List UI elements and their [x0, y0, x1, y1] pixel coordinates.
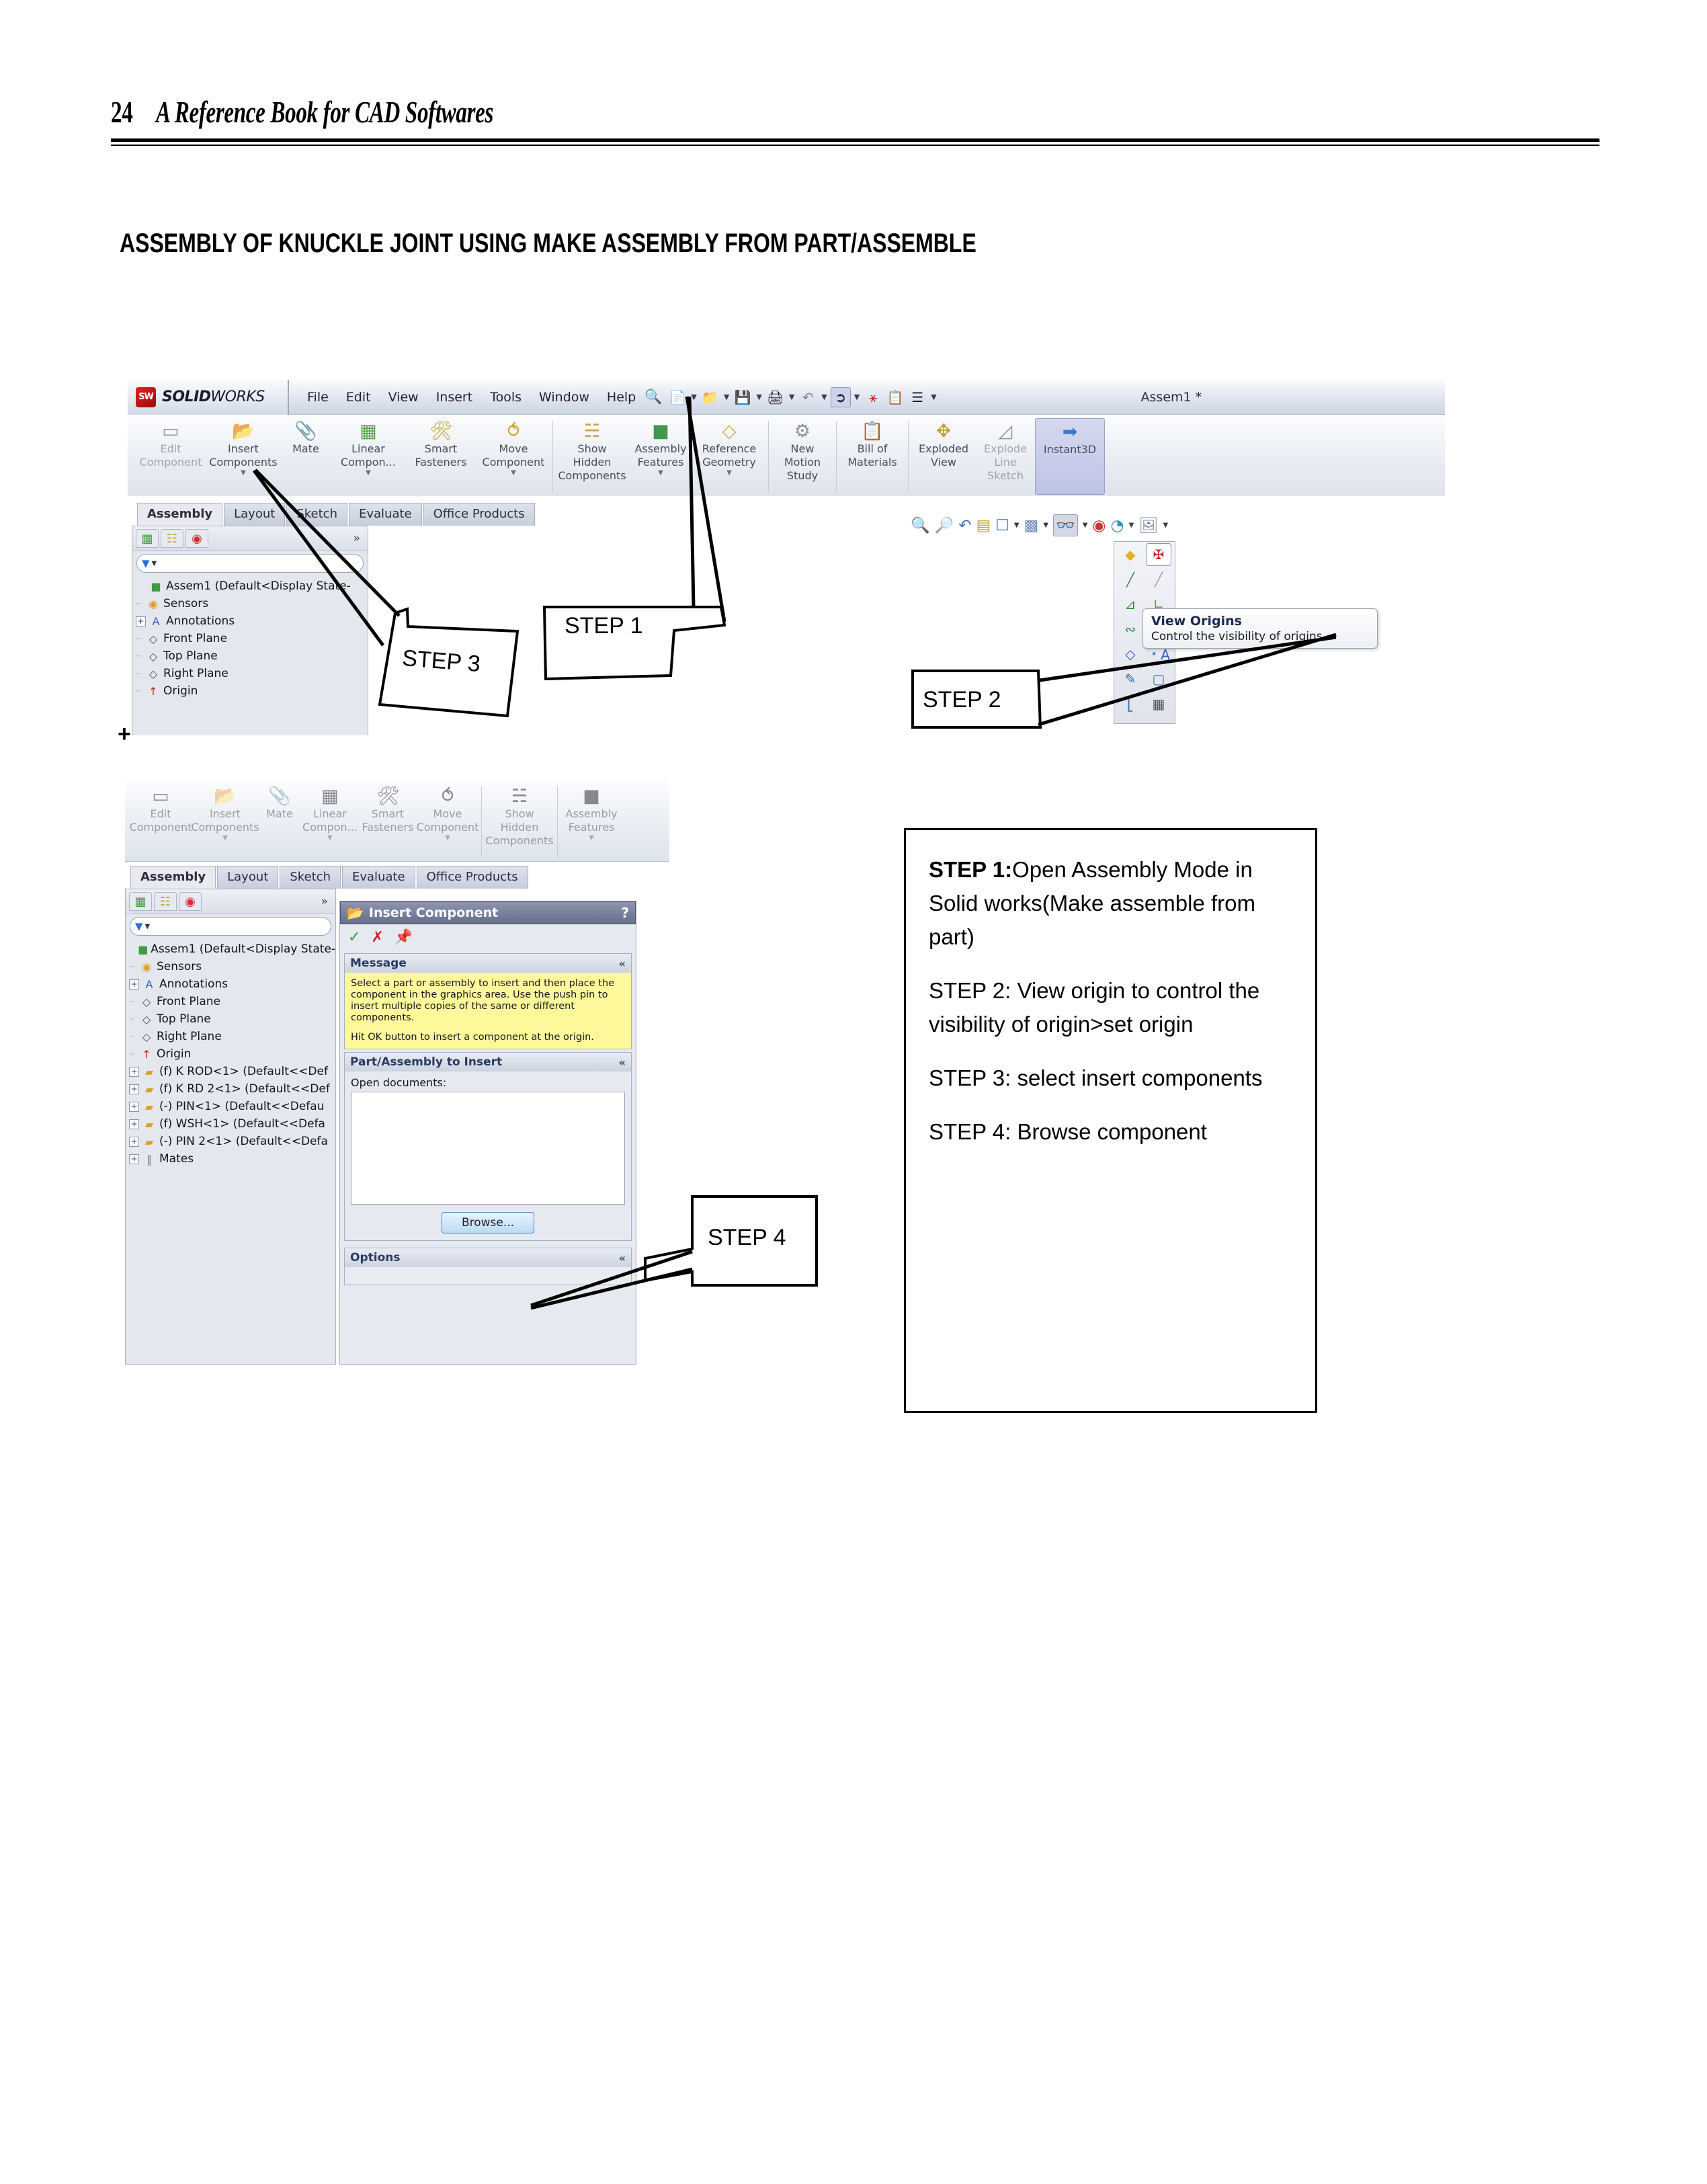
collapse-chevron-icon[interactable]: « — [619, 957, 626, 970]
step2-callout-label: STEP 2 — [923, 687, 1001, 713]
view-live-section-icon[interactable]: ⎣ — [1118, 692, 1143, 715]
ribbon-new-motion-study[interactable]: ⚙ New Motion Study — [772, 418, 833, 495]
ribbon-label: Fasteners — [415, 456, 467, 469]
ribbon2-move-component[interactable]: ⥀ Move Component ▼ — [417, 783, 478, 861]
feature-manager-tree-icon[interactable]: ▦ — [129, 892, 152, 911]
display-manager-icon[interactable]: ◉ — [185, 529, 208, 548]
annotations-icon: A — [148, 615, 164, 628]
tooltip-description: Control the visibility of origins. — [1151, 630, 1369, 643]
ribbon-show-hidden-components[interactable]: ☵ Show Hidden Components — [556, 418, 628, 495]
select-pointer-icon[interactable]: ➲ — [831, 387, 851, 407]
message-body: Select a part or assembly to insert and … — [345, 973, 631, 1049]
ribbon-explode-line-sketch[interactable]: ◿ Explode Line Sketch — [976, 418, 1035, 495]
tree-item-label: Annotations — [166, 614, 235, 628]
step1-instruction: STEP 1:Open Assembly Mode in Solid works… — [929, 853, 1295, 954]
ribbon-label: Motion — [784, 456, 821, 469]
chevron-down-icon[interactable]: ▼ — [222, 834, 228, 842]
display-manager-icon[interactable]: ◉ — [179, 892, 202, 911]
tree-item-label: (f) WSH<1> (Default<<Defa — [159, 1117, 325, 1131]
menu-items[interactable]: File Edit View Insert Tools Window Help … — [289, 387, 662, 407]
ribbon-move-component[interactable]: ⥀ Move Component ▼ — [477, 418, 550, 495]
ribbon-linear-component-pattern[interactable]: ▦ Linear Compon... ▼ — [332, 418, 405, 495]
tree-item[interactable]: ··◇Front Plane — [129, 993, 335, 1010]
tab2-assembly[interactable]: Assembly — [130, 866, 216, 889]
part-icon: ▰ — [141, 1118, 157, 1131]
insert-components-icon: 📂 — [214, 786, 237, 807]
ribbon-label: Line — [994, 456, 1016, 469]
expand-plus-icon[interactable]: + — [129, 1154, 139, 1164]
ribbon-label: Component — [130, 821, 192, 834]
message-section-header[interactable]: Message « — [345, 954, 631, 973]
show-hidden-components-icon: ☵ — [584, 421, 600, 442]
tree-item[interactable]: +▰(-) PIN<1> (Default<<Defau — [129, 1098, 335, 1115]
expand-plus-icon[interactable]: + — [129, 1102, 139, 1112]
section-title: Options — [350, 1251, 400, 1264]
linear-component-pattern-icon: ▦ — [360, 421, 377, 442]
tree-item-label: (-) PIN 2<1> (Default<<Defa — [159, 1135, 328, 1148]
tree-connector: ·· — [136, 634, 145, 643]
ribbon-reference-geometry[interactable]: ◇ Reference Geometry ▼ — [693, 418, 765, 495]
section-title: Message — [350, 957, 407, 970]
chevron-down-icon[interactable]: ▼ — [511, 469, 516, 477]
ribbon-label: Move — [499, 443, 528, 455]
tree-item[interactable]: ··◇Right Plane — [129, 1028, 335, 1045]
plane-icon: ◇ — [138, 996, 155, 1008]
tree-item[interactable]: +AAnnotations — [136, 612, 368, 630]
ribbon-label: Reference — [702, 443, 757, 455]
ribbon-label: Exploded — [919, 443, 968, 455]
tree-item-label: Assem1 (Default<Display State- — [151, 942, 335, 956]
tree-item-label: Front Plane — [157, 995, 220, 1008]
bill-of-materials-icon: 📋 — [861, 421, 884, 442]
tree-connector: ·· — [136, 669, 145, 678]
chevron-down-icon[interactable]: ▼ — [327, 834, 333, 842]
ribbon-label: Assembly — [634, 443, 686, 455]
edit-appearance-icon[interactable]: ◉ — [1092, 517, 1106, 534]
tree-filter-input[interactable]: ▼ ▼ — [136, 554, 364, 573]
expand-plus-icon[interactable]: + — [129, 1084, 139, 1094]
step1-instruction-label: STEP 1: — [929, 857, 1012, 882]
part-assembly-section: Part/Assembly to Insert « Open documents… — [344, 1052, 632, 1241]
tree-item[interactable]: ··◇Front Plane — [136, 630, 368, 647]
ribbon-insert-components[interactable]: 📂 Insert Components ▼ — [207, 418, 280, 495]
tree-item-label: Origin — [163, 684, 198, 698]
ribbon-label: Explode — [984, 443, 1027, 455]
command-tabs-top[interactable]: Assembly Layout Sketch Evaluate Office P… — [132, 503, 575, 526]
tab2-office-products[interactable]: Office Products — [417, 866, 528, 889]
tree-connector: ·· — [129, 1049, 138, 1059]
assembly-ribbon-bottom: ▭ Edit Component 📂 Insert Components ▼ 📎… — [125, 780, 669, 862]
ribbon-label: Components — [191, 821, 259, 834]
open-folder-icon[interactable]: 📁 — [700, 387, 720, 407]
filter-icon: ▼ — [135, 920, 143, 932]
expand-plus-icon[interactable]: + — [129, 979, 139, 989]
tree-item[interactable]: ■Assem1 (Default<Display State- — [136, 577, 368, 595]
search-help-icon[interactable]: 🔍 — [644, 389, 662, 405]
reference-geometry-icon: ◇ — [722, 421, 737, 442]
sensors-icon: ◉ — [138, 961, 155, 973]
sensors-icon: ◉ — [145, 598, 161, 610]
tree-filter-input[interactable]: ▼ ▼ — [130, 917, 331, 936]
ribbon-label: Insert — [210, 808, 241, 820]
ribbon-label: Features — [638, 456, 684, 469]
hide-show-items-icon[interactable]: 👓 — [1053, 514, 1078, 536]
help-question-icon[interactable]: ? — [621, 905, 629, 921]
plane-icon: ◇ — [138, 1013, 155, 1026]
step4-callout-label: STEP 4 — [708, 1225, 786, 1251]
properties-icon[interactable]: ☰ — [907, 387, 927, 407]
steps-instructions-box: STEP 1:Open Assembly Mode in Solid works… — [904, 828, 1317, 1413]
plane-icon: ◇ — [145, 633, 161, 645]
ribbon2-edit-component[interactable]: ▭ Edit Component — [129, 783, 192, 861]
ribbon-bill-of-materials[interactable]: 📋 Bill of Materials — [839, 418, 905, 495]
property-manager-title: Insert Component — [369, 905, 498, 920]
insert-component-icon: 📂 — [347, 905, 364, 921]
tree-item-label: Right Plane — [157, 1030, 222, 1043]
tree-item[interactable]: +AAnnotations — [129, 975, 335, 993]
tree-connector: ·· — [136, 651, 145, 661]
ribbon-mate[interactable]: 📎 Mate — [280, 418, 332, 495]
ribbon-label: Instant3D — [1044, 444, 1096, 456]
tooltip-title: View Origins — [1151, 614, 1369, 629]
tree-item[interactable]: +▰(-) PIN 2<1> (Default<<Defa — [129, 1133, 335, 1150]
view-orientation-icon[interactable]: ☐ — [995, 517, 1009, 534]
options-section: Options « — [344, 1248, 632, 1285]
ribbon2-assembly-features[interactable]: ■ Assembly Features ▼ — [560, 783, 622, 861]
tree-item-label: (-) PIN<1> (Default<<Defau — [159, 1100, 324, 1113]
collapse-chevron-icon[interactable]: « — [619, 1056, 626, 1069]
step4-instruction: STEP 4: Browse component — [929, 1115, 1295, 1149]
ribbon-label: Compon... — [341, 456, 396, 469]
ribbon-label: Linear — [351, 443, 385, 455]
expand-plus-icon[interactable]: + — [129, 1119, 139, 1129]
insert-component-property-manager: 📂 Insert Component ? ✓ ✗ 📌 Message « Sel… — [339, 901, 636, 1365]
ribbon-label: Show — [505, 808, 534, 820]
ribbon-label: Mate — [292, 443, 319, 455]
assembly-icon: ■ — [148, 580, 164, 593]
page-number: 24 — [111, 94, 132, 130]
tree-connector: ·· — [136, 599, 145, 608]
display-style-icon[interactable]: ▩ — [1024, 517, 1039, 534]
rebuild-icon[interactable]: ⚹ — [863, 387, 883, 407]
step2-instruction: STEP 2: View origin to control the visib… — [929, 974, 1295, 1041]
ribbon-label: Edit — [161, 443, 181, 455]
tree-item[interactable]: +▰(f) K ROD<1> (Default<<Def — [129, 1063, 335, 1080]
move-component-icon: ⥀ — [507, 421, 519, 442]
chevron-down-icon[interactable]: ▼ — [589, 834, 594, 842]
tree-item[interactable]: ··◇Top Plane — [129, 1010, 335, 1028]
insert-components-icon: 📂 — [232, 421, 255, 442]
ribbon-exploded-view[interactable]: ✥ Exploded View — [911, 418, 976, 495]
apply-scene-icon[interactable]: ◔ — [1110, 517, 1124, 534]
property-manager-icon[interactable]: ☷ — [161, 529, 183, 548]
tree-connector: ·· — [129, 1014, 138, 1024]
command-tabs-bottom[interactable]: Assembly Layout Sketch Evaluate Office P… — [125, 866, 542, 889]
feature-tree-list[interactable]: ■Assem1 (Default<Display State-··◉Sensor… — [132, 575, 368, 700]
smart-fasteners-icon: 🛠 — [376, 786, 399, 807]
tree-item-label: Top Plane — [163, 649, 218, 663]
tree-overflow-chevron[interactable]: » — [321, 895, 332, 908]
zoom-to-area-icon[interactable]: 🔎 — [935, 516, 954, 534]
property-manager-title-bar: 📂 Insert Component ? — [340, 901, 636, 924]
part-icon: ▰ — [141, 1135, 157, 1148]
tree-item-label: Front Plane — [163, 632, 227, 645]
running-head-title: A Reference Book for CAD Softwares — [156, 95, 493, 129]
menu-view[interactable]: View — [380, 387, 427, 407]
ribbon-label: Assembly — [565, 808, 617, 820]
view-sketches-icon[interactable]: ◇ — [1118, 643, 1143, 665]
ribbon-label: Smart — [425, 443, 457, 455]
tab2-evaluate[interactable]: Evaluate — [342, 866, 415, 889]
ribbon-label: Components — [485, 835, 553, 847]
origin-icon: ↑ — [145, 685, 161, 698]
tree-item-label: Annotations — [159, 977, 228, 991]
tree-overflow-chevron[interactable]: » — [353, 532, 364, 545]
open-documents-label: Open documents: — [351, 1076, 625, 1089]
browse-button[interactable]: Browse... — [442, 1212, 534, 1233]
ribbon-label: Features — [569, 821, 615, 834]
options-icon[interactable]: 📋 — [885, 387, 905, 407]
feature-tree-bottom: ▦ ☷ ◉ » ▼ ▼ ■Assem1 (Default<Display Sta… — [125, 889, 336, 1365]
part-icon: ▰ — [141, 1100, 157, 1113]
ribbon2-smart-fasteners[interactable]: 🛠 Smart Fasteners — [359, 783, 417, 861]
ribbon-label: Insert — [228, 443, 259, 455]
section-view-icon[interactable]: ▤ — [976, 517, 991, 534]
tree-item[interactable]: ··◉Sensors — [129, 958, 335, 975]
tree-connector: ·· — [129, 1032, 138, 1041]
tree-item[interactable]: ··◇Top Plane — [136, 647, 368, 665]
ribbon-label: Components — [209, 456, 277, 469]
tree-item[interactable]: +▰(f) WSH<1> (Default<<Defa — [129, 1115, 335, 1133]
tree-item[interactable]: +‖Mates — [129, 1150, 335, 1168]
tab-sketch[interactable]: Sketch — [286, 503, 347, 526]
save-icon[interactable]: 💾 — [733, 387, 753, 407]
tree-item-label: Mates — [159, 1152, 194, 1166]
ribbon-label: Mate — [266, 808, 293, 820]
filter-icon: ▼ — [142, 557, 150, 569]
ribbon-edit-component[interactable]: ▭ Edit Component — [134, 418, 207, 495]
tree-item[interactable]: ··↑Origin — [129, 1045, 335, 1063]
tree-item-label: Right Plane — [163, 667, 228, 680]
tree-item[interactable]: ··◇Right Plane — [136, 665, 368, 682]
tree-connector: ·· — [136, 686, 145, 696]
new-document-icon[interactable]: 📄 — [667, 387, 688, 407]
step3-callout-label: STEP 3 — [401, 645, 481, 678]
tree-item-label: Origin — [157, 1047, 191, 1061]
tree-tab-strip[interactable]: ▦ ☷ ◉ » — [126, 889, 335, 914]
tree-tab-strip[interactable]: ▦ ☷ ◉ » — [132, 526, 368, 551]
view-planes-icon[interactable]: ◆ — [1118, 543, 1143, 566]
header-rule — [111, 138, 1599, 146]
edit-component-icon: ▭ — [162, 421, 179, 442]
part-icon: ▰ — [141, 1065, 157, 1078]
feature-tree-top: ▦ ☷ ◉ » ▼ ▼ ■Assem1 (Default<Display Sta… — [132, 526, 368, 735]
ribbon-label: Linear — [313, 808, 347, 820]
step1-callout-label: STEP 1 — [565, 613, 643, 639]
ribbon-instant3d[interactable]: ➡ Instant3D — [1035, 418, 1105, 495]
collapse-chevron-icon[interactable]: « — [619, 1252, 626, 1264]
property-manager-actions[interactable]: ✓ ✗ 📌 — [340, 924, 636, 951]
brand-light: WORKS — [211, 389, 265, 405]
assembly-features-icon: ■ — [583, 786, 600, 807]
ribbon-label: Show — [577, 443, 606, 455]
chevron-down-icon[interactable]: ▼ — [726, 469, 732, 477]
ribbon-assembly-features[interactable]: ■ Assembly Features ▼ — [628, 418, 693, 495]
mates-icon: ‖ — [141, 1153, 157, 1166]
plane-icon: ◇ — [138, 1030, 155, 1043]
ribbon2-linear-component-pattern[interactable]: ▦ Linear Compon... ▼ — [301, 783, 359, 861]
solidworks-logo: SW SOLIDWORKS — [128, 380, 289, 415]
tab-layout[interactable]: Layout — [224, 503, 285, 526]
view-grid-icon[interactable]: ▢ — [1146, 668, 1171, 690]
tree-item-label: Sensors — [163, 597, 208, 610]
message-paragraph-1: Select a part or assembly to insert and … — [351, 978, 625, 1024]
document-title: Assem1 * — [938, 390, 1405, 405]
tree-item[interactable]: ··↑Origin — [136, 682, 368, 700]
ribbon-label: View — [931, 456, 956, 469]
mate-icon: 📎 — [294, 421, 317, 442]
chevron-down-icon[interactable]: ▼ — [445, 834, 450, 842]
ribbon-label: New — [791, 443, 815, 455]
view-origins-tooltip: View Origins Control the visibility of o… — [1142, 608, 1378, 649]
feature-tree-list[interactable]: ■Assem1 (Default<Display State-··◉Sensor… — [126, 938, 335, 1168]
step3-instruction: STEP 3: select insert components — [929, 1061, 1295, 1095]
ribbon-label: Compon... — [302, 821, 358, 834]
tree-connector: ·· — [129, 962, 138, 971]
tab2-sketch[interactable]: Sketch — [280, 866, 341, 889]
menu-edit[interactable]: Edit — [337, 387, 380, 407]
view-grid-lines-icon[interactable]: ▦ — [1146, 692, 1171, 715]
feature-manager-tree-icon[interactable]: ▦ — [136, 529, 159, 548]
ribbon-label: Hidden — [501, 821, 539, 834]
view-coordinate-systems-icon[interactable]: ⊿ — [1118, 593, 1143, 616]
assembly-icon: ■ — [138, 943, 149, 956]
quick-access-toolbar[interactable]: 📄▼ 📁▼ 💾▼ 🖨▼ ↶▼ ➲▼ ⚹ 📋 ☰▼ — [662, 380, 938, 415]
menu-tools[interactable]: Tools — [481, 387, 530, 407]
tree-item-label: Sensors — [157, 960, 202, 973]
tree-item-label: (f) K ROD<1> (Default<<Def — [159, 1065, 328, 1078]
message-paragraph-2: Hit OK button to insert a component at t… — [351, 1032, 625, 1043]
plane-icon: ◇ — [145, 668, 161, 680]
show-hidden-components-icon: ☵ — [511, 786, 528, 807]
tree-item-label: Assem1 (Default<Display State- — [166, 579, 351, 593]
exploded-view-icon: ✥ — [936, 421, 952, 442]
running-head: 24A Reference Book for CAD Softwares — [111, 94, 1183, 130]
chevron-down-icon[interactable]: ▼ — [145, 923, 151, 930]
view-curves-icon[interactable]: ∾ — [1118, 618, 1143, 641]
view-toolbar-top[interactable]: 🔍 🔎 ↶ ▤ ☐▼ ▩▼ 👓▼ ◉ ◔▼ 🖼▼ — [911, 514, 1168, 536]
open-documents-listbox[interactable] — [351, 1092, 625, 1205]
view-axes-icon[interactable]: ╱ — [1118, 568, 1143, 591]
expand-plus-icon[interactable]: + — [129, 1067, 139, 1077]
tree-item[interactable]: +▰(f) K RD 2<1> (Default<<Def — [129, 1080, 335, 1098]
section-title: Part/Assembly to Insert — [350, 1055, 502, 1069]
ribbon2-show-hidden-components[interactable]: ☵ Show Hidden Components — [485, 783, 554, 861]
view-settings-icon[interactable]: 🖼 — [1138, 516, 1158, 534]
options-section-header[interactable]: Options « — [345, 1248, 631, 1267]
ribbon-label: Hidden — [573, 456, 612, 469]
expand-plus-icon[interactable]: + — [129, 1137, 139, 1147]
cancel-x-icon[interactable]: ✗ — [371, 929, 383, 946]
tree-connector: ·· — [129, 997, 138, 1006]
menu-file[interactable]: File — [298, 387, 337, 407]
mate-icon: 📎 — [268, 786, 291, 807]
ribbon-label: Components — [558, 470, 626, 482]
chevron-down-icon[interactable]: ▼ — [366, 469, 371, 477]
ribbon-label: Component — [140, 456, 202, 469]
page-header: 24A Reference Book for CAD Softwares — [111, 94, 1599, 155]
ribbon2-mate[interactable]: 📎 Mate — [258, 783, 301, 861]
menu-window[interactable]: Window — [530, 387, 598, 407]
tab-evaluate[interactable]: Evaluate — [349, 503, 422, 526]
view-parting-lines-icon[interactable]: ✎ — [1118, 668, 1143, 690]
smart-fasteners-icon: 🛠 — [429, 421, 452, 442]
menu-help[interactable]: Help — [598, 387, 644, 407]
brand-bold: SOLID — [162, 389, 211, 405]
ribbon-label: Study — [787, 470, 818, 482]
ribbon-label: Component — [417, 821, 479, 834]
part-icon: ▰ — [141, 1083, 157, 1096]
tree-item-label: (f) K RD 2<1> (Default<<Def — [159, 1082, 330, 1096]
zoom-to-fit-icon[interactable]: 🔍 — [911, 516, 930, 534]
new-motion-study-icon: ⚙ — [794, 421, 810, 442]
section-title: ASSEMBLY OF KNUCKLE JOINT USING MAKE ASS… — [120, 229, 976, 259]
annotations-icon: A — [141, 978, 157, 991]
tree-item[interactable]: ··◉Sensors — [136, 595, 368, 612]
explode-line-sketch-icon: ◿ — [999, 421, 1013, 442]
chevron-down-icon[interactable]: ▼ — [152, 560, 157, 567]
view-temporary-axes-icon[interactable]: ╱ — [1146, 568, 1171, 591]
expand-plus-icon[interactable]: + — [136, 616, 146, 626]
origin-icon: ↑ — [138, 1048, 155, 1061]
ribbon-label: Smart — [372, 808, 404, 820]
print-icon[interactable]: 🖨 — [765, 387, 786, 407]
push-pin-icon[interactable]: 📌 — [394, 929, 413, 946]
tree-item[interactable]: ■Assem1 (Default<Display State- — [129, 940, 335, 958]
message-section: Message « Select a part or assembly to i… — [344, 953, 632, 1049]
chevron-down-icon[interactable]: ▼ — [658, 469, 663, 477]
ribbon-label: Sketch — [987, 470, 1024, 482]
ribbon-label: Component — [483, 456, 545, 469]
assembly-ribbon-top: ▭ Edit Component 📂 Insert Components ▼ 📎… — [128, 415, 1445, 495]
menu-insert[interactable]: Insert — [427, 387, 482, 407]
ribbon-smart-fasteners[interactable]: 🛠 Smart Fasteners — [405, 418, 477, 495]
chevron-down-icon[interactable]: ▼ — [241, 469, 246, 477]
tree-item-label: Top Plane — [157, 1012, 211, 1026]
ok-check-icon[interactable]: ✓ — [348, 929, 360, 946]
edit-component-icon: ▭ — [152, 786, 169, 807]
part-assembly-section-header[interactable]: Part/Assembly to Insert « — [345, 1053, 631, 1071]
property-manager-icon[interactable]: ☷ — [154, 892, 177, 911]
ribbon-label: Move — [433, 808, 462, 820]
move-component-icon: ⥀ — [442, 786, 454, 807]
tab2-layout[interactable]: Layout — [217, 866, 278, 889]
ribbon-label: Materials — [847, 456, 897, 469]
solidworks-cube-icon: SW — [136, 387, 156, 407]
ribbon-label: Bill of — [858, 443, 888, 455]
linear-component-pattern-icon: ▦ — [321, 786, 339, 807]
menu-bar: SW SOLIDWORKS File Edit View Insert Tool… — [128, 380, 1445, 415]
tab-assembly[interactable]: Assembly — [137, 503, 222, 526]
undo-icon[interactable]: ↶ — [798, 387, 818, 407]
tab-office-products[interactable]: Office Products — [423, 503, 535, 526]
view-origins-icon[interactable]: ✠ — [1146, 543, 1171, 566]
plus-marker: + — [118, 721, 131, 747]
ribbon-label: Geometry — [702, 456, 756, 469]
previous-view-icon[interactable]: ↶ — [958, 517, 971, 534]
ribbon2-insert-components[interactable]: 📂 Insert Components ▼ — [192, 783, 258, 861]
plane-icon: ◇ — [145, 650, 161, 663]
